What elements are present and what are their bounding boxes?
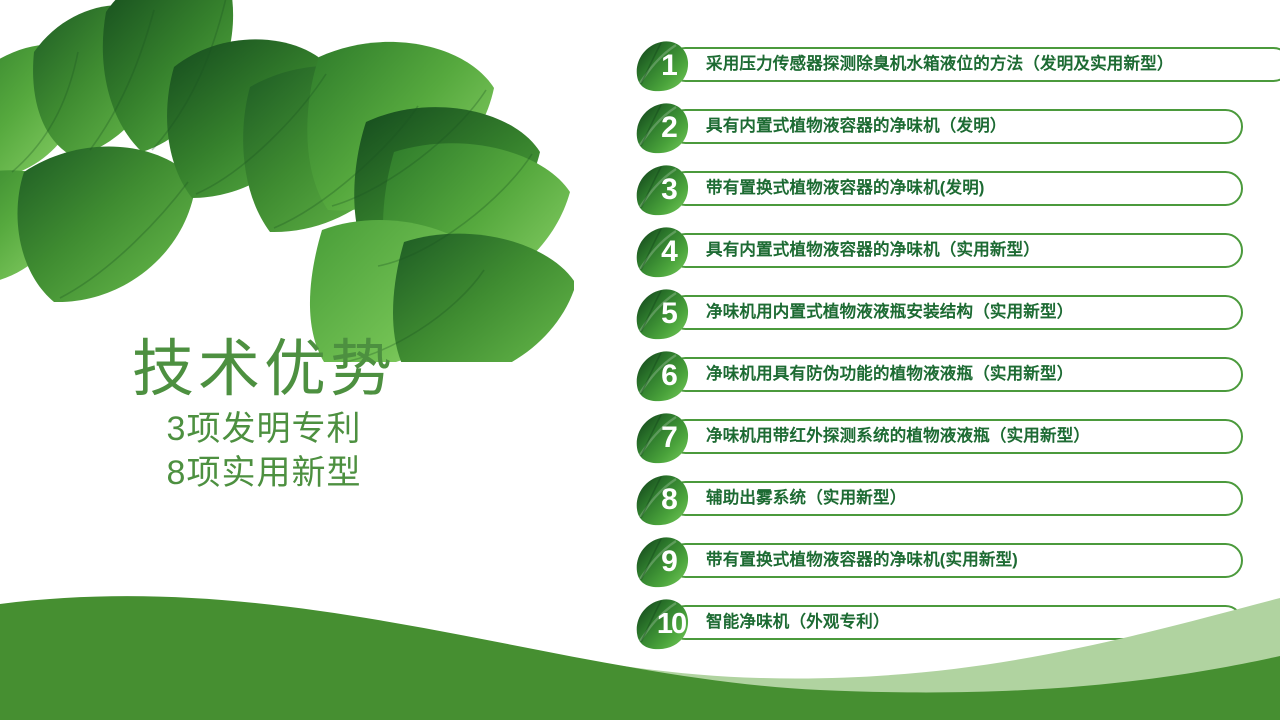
list-item-number: 5 bbox=[631, 297, 693, 331]
list-item[interactable]: 带有置换式植物液容器的净味机(实用新型) 9 bbox=[631, 534, 1280, 596]
list-item-number: 9 bbox=[631, 545, 693, 579]
list-item[interactable]: 采用压力传感器探测除臭机水箱液位的方法（发明及实用新型） bbox=[631, 38, 1280, 100]
list-item[interactable]: 具有内置式植物液容器的净味机（实用新型） 4 bbox=[631, 224, 1280, 286]
list-item-label: 净味机用带红外探测系统的植物液液瓶（实用新型） bbox=[706, 420, 1090, 453]
leaf-bullet-icon: 10 bbox=[631, 596, 693, 652]
leaf-bullet-icon: 7 bbox=[631, 410, 693, 466]
slide-canvas: 技术优势 3项发明专利 8项实用新型 采用压力传感器探测除臭机水箱液位的方法（发… bbox=[0, 0, 1280, 720]
leaf-bullet-icon: 9 bbox=[631, 534, 693, 590]
list-item-label: 智能净味机（外观专利） bbox=[706, 606, 890, 639]
list-item-label: 具有内置式植物液容器的净味机（实用新型） bbox=[706, 234, 1040, 267]
list-item-label: 具有内置式植物液容器的净味机（发明） bbox=[706, 110, 1007, 143]
list-item-number: 10 bbox=[631, 607, 693, 641]
list-item-number: 8 bbox=[631, 483, 693, 517]
leaves-city-illustration bbox=[0, 0, 574, 362]
leaf-bullet-icon: 4 bbox=[631, 224, 693, 280]
list-item[interactable]: 带有置换式植物液容器的净味机(发明) 3 bbox=[631, 162, 1280, 224]
leaf-bullet-icon: 8 bbox=[631, 472, 693, 528]
list-item[interactable]: 具有内置式植物液容器的净味机（发明） 2 bbox=[631, 100, 1280, 162]
list-item[interactable]: 净味机用具有防伪功能的植物液液瓶（实用新型） 6 bbox=[631, 348, 1280, 410]
title-block: 技术优势 3项发明专利 8项实用新型 bbox=[0, 338, 520, 496]
list-item[interactable]: 智能净味机（外观专利） 10 bbox=[631, 596, 1280, 658]
list-item-number: 4 bbox=[631, 235, 693, 269]
list-item-label: 带有置换式植物液容器的净味机(实用新型) bbox=[706, 544, 1018, 577]
list-item[interactable]: 辅助出雾系统（实用新型） 8 bbox=[631, 472, 1280, 534]
leaf-bullet-icon: 2 bbox=[631, 100, 693, 156]
list-item[interactable]: 净味机用内置式植物液液瓶安装结构（实用新型） 5 bbox=[631, 286, 1280, 348]
list-item-number: 1 bbox=[631, 49, 693, 83]
list-item-number: 2 bbox=[631, 111, 693, 145]
list-item-label: 净味机用内置式植物液液瓶安装结构（实用新型） bbox=[706, 296, 1073, 329]
leaf-bullet-icon: 5 bbox=[631, 286, 693, 342]
list-item-label: 净味机用具有防伪功能的植物液液瓶（实用新型） bbox=[706, 358, 1073, 391]
leaf-bullet-icon: 3 bbox=[631, 162, 693, 218]
subtitle-line-2: 8项实用新型 bbox=[0, 452, 520, 496]
list-item-label: 带有置换式植物液容器的净味机(发明) bbox=[706, 172, 985, 205]
page-title: 技术优势 bbox=[0, 338, 520, 402]
patent-list: 采用压力传感器探测除臭机水箱液位的方法（发明及实用新型） bbox=[631, 38, 1280, 658]
leaf-bullet-icon: 6 bbox=[631, 348, 693, 404]
list-item-label: 辅助出雾系统（实用新型） bbox=[706, 482, 906, 515]
list-item-number: 6 bbox=[631, 359, 693, 393]
list-item-number: 7 bbox=[631, 421, 693, 455]
subtitle-line-1: 3项发明专利 bbox=[0, 408, 520, 452]
leaf-bullet-icon: 1 bbox=[631, 38, 693, 94]
list-item-number: 3 bbox=[631, 173, 693, 207]
list-item-label: 采用压力传感器探测除臭机水箱液位的方法（发明及实用新型） bbox=[706, 48, 1174, 81]
list-item[interactable]: 净味机用带红外探测系统的植物液液瓶（实用新型） 7 bbox=[631, 410, 1280, 472]
